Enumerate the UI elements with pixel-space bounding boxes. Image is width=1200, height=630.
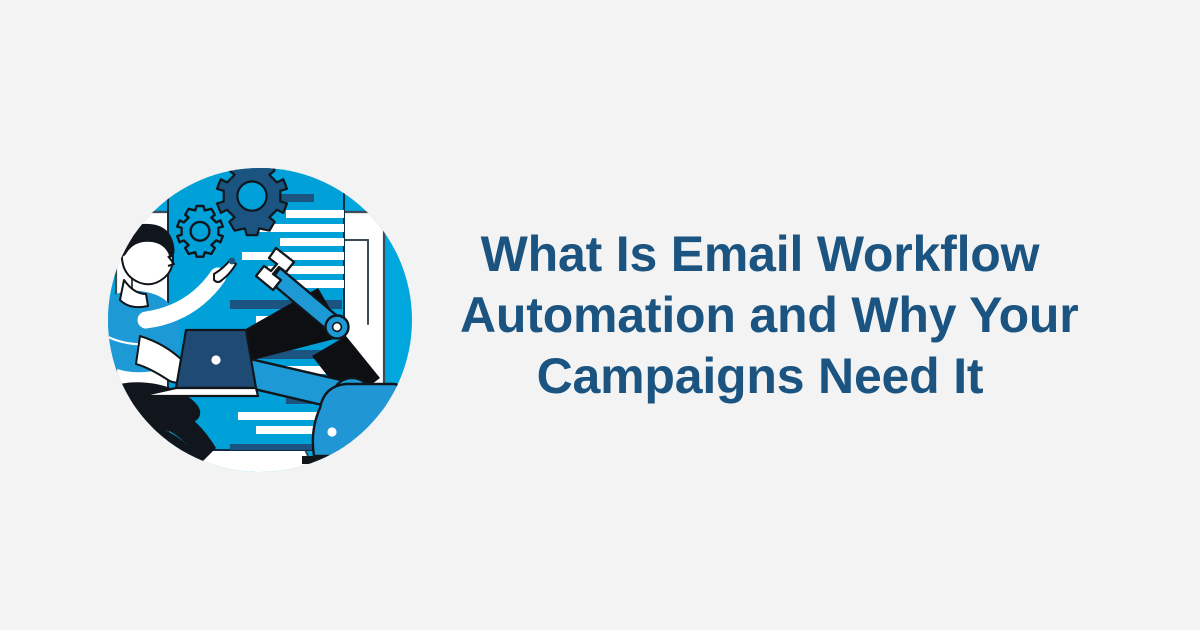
headline-pane: What Is Email Workflow Automation and Wh…	[450, 0, 1070, 630]
page-title-line-2: Automation and Why Your	[460, 285, 1060, 346]
page-title-line-3: Campaigns Need It	[460, 346, 1060, 407]
page-title-line-1: What Is Email Workflow	[460, 224, 1060, 285]
illustration	[80, 140, 440, 500]
poster-canvas: What Is Email Workflow Automation and Wh…	[0, 0, 1200, 630]
illustration-svg	[80, 140, 440, 500]
page-title: What Is Email Workflow Automation and Wh…	[460, 224, 1060, 407]
